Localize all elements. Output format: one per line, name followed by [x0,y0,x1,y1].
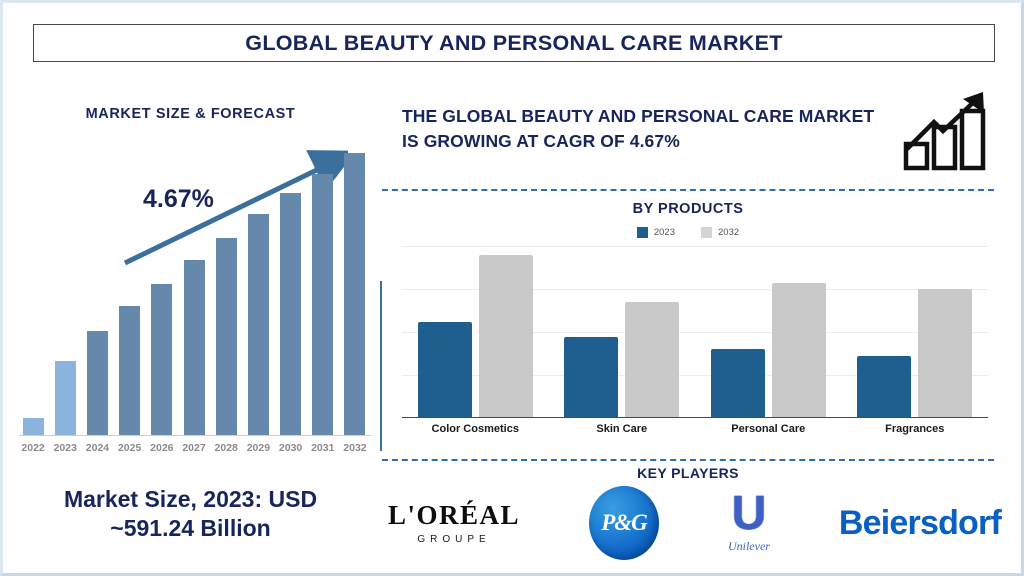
by-products-category-axis: Color Cosmetics Skin Care Personal Care … [402,423,988,435]
forecast-year-axis: 2022 2023 2024 2025 2026 2027 2028 2029 … [17,438,372,458]
year-label: 2029 [242,442,274,454]
by-products-baseline [402,417,988,419]
year-label: 2023 [49,442,81,454]
legend-label-2023: 2023 [654,227,675,238]
year-label: 2026 [146,442,178,454]
market-size-line-2: ~591.24 Billion [3,514,378,543]
bar-col-2024 [81,331,113,436]
unilever-logo[interactable]: U Unilever [728,492,770,553]
bar-col-2030 [275,193,307,436]
year-label: 2024 [81,442,113,454]
legend-swatch-2023 [637,227,648,238]
loreal-subtitle: GROUPE [417,534,490,545]
year-label: 2027 [178,442,210,454]
bar-2032 [625,302,679,418]
bar-group-color-cosmetics [402,246,549,418]
infographic-page: GLOBAL BEAUTY AND PERSONAL CARE MARKET M… [0,0,1024,576]
beiersdorf-logo[interactable]: Beiersdorf [839,504,1001,543]
year-label: 2031 [307,442,339,454]
bar-2032 [772,283,826,418]
legend-label-2032: 2032 [718,227,739,238]
bar-2032 [479,255,533,418]
divider-dashed-bottom [382,459,994,461]
bar-col-2025 [114,306,146,436]
year-label: 2030 [275,442,307,454]
loreal-logo[interactable]: L'ORÉAL GROUPE [388,502,520,545]
key-players-logos: L'ORÉAL GROUPE P&G U Unilever Beiersdorf [382,484,1007,562]
market-size-statement: Market Size, 2023: USD ~591.24 Billion [3,485,378,543]
market-size-forecast-heading: MARKET SIZE & FORECAST [3,106,378,122]
bar-group-personal-care [695,246,842,418]
bar-col-2032 [339,153,371,436]
page-title-box: GLOBAL BEAUTY AND PERSONAL CARE MARKET [33,24,995,62]
bar-2023 [857,356,911,418]
pg-oval-mark: P&G [589,486,659,560]
market-size-line-1: Market Size, 2023: USD [3,485,378,514]
forecast-baseline [19,435,371,436]
bar-2023 [418,322,472,418]
bar-2032 [918,289,972,418]
growth-headline: THE GLOBAL BEAUTY AND PERSONAL CARE MARK… [402,104,882,154]
panel-vertical-divider [380,281,382,451]
bar-col-2022 [17,418,49,436]
page-title: GLOBAL BEAUTY AND PERSONAL CARE MARKET [245,31,782,56]
legend-item-2023: 2023 [637,227,675,238]
by-products-bar-groups [402,246,988,418]
category-label: Personal Care [695,423,842,435]
bar-2023 [564,337,618,418]
loreal-wordmark: L'ORÉAL [388,502,520,529]
bar-2023 [711,349,765,418]
unilever-u-mark: U [732,492,767,536]
category-label: Fragrances [842,423,989,435]
category-label: Skin Care [549,423,696,435]
bar-group-skin-care [549,246,696,418]
divider-dashed-top [382,189,994,191]
bar-col-2029 [242,214,274,436]
pg-wordmark: P&G [601,510,647,536]
by-products-chart [402,246,988,418]
market-size-forecast-chart: 2022 2023 2024 2025 2026 2027 2028 2029 … [17,173,372,458]
year-label: 2028 [210,442,242,454]
bar-col-2026 [146,284,178,436]
year-label: 2025 [114,442,146,454]
unilever-wordmark: Unilever [728,539,770,554]
bar-group-fragrances [842,246,989,418]
pg-logo[interactable]: P&G [589,486,659,560]
category-label: Color Cosmetics [402,423,549,435]
forecast-bars [17,186,372,436]
year-label: 2032 [339,442,371,454]
beiersdorf-wordmark: Beiersdorf [839,504,1001,543]
year-label: 2022 [17,442,49,454]
bar-col-2028 [210,238,242,436]
bar-col-2027 [178,260,210,436]
legend-swatch-2032 [701,227,712,238]
bar-chart-growth-icon [901,89,1001,171]
bar-col-2023 [49,361,81,436]
bar-col-2031 [307,174,339,436]
by-products-legend: 2023 2032 [382,227,994,238]
key-players-title: KEY PLAYERS [382,465,994,481]
legend-item-2032: 2032 [701,227,739,238]
by-products-title: BY PRODUCTS [382,201,994,217]
